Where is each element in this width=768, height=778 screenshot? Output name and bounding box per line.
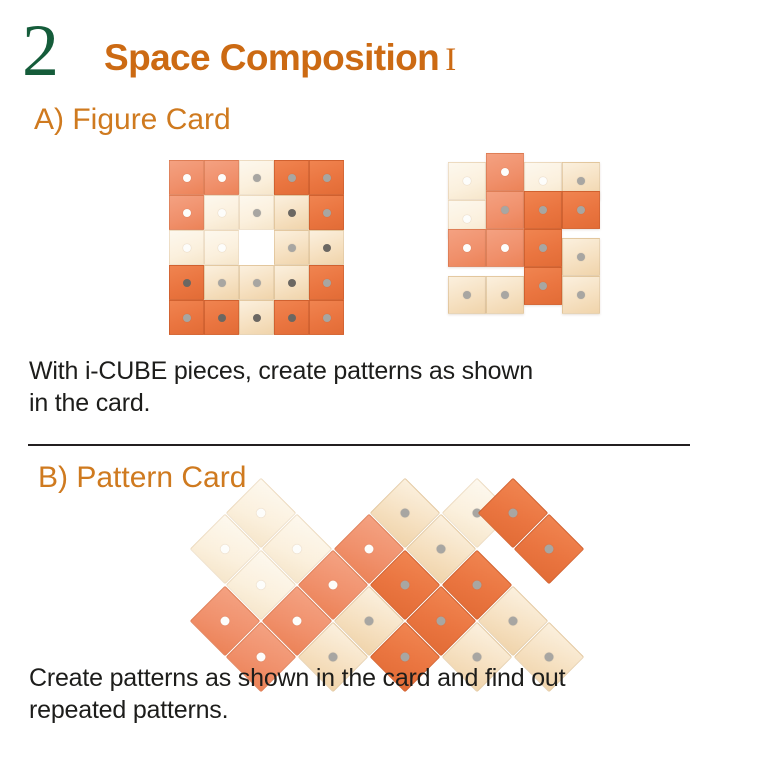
grid-cube-r1-c2 bbox=[204, 160, 239, 195]
cube-dot-icon bbox=[501, 168, 509, 176]
cube-dot-icon bbox=[471, 579, 484, 592]
cube-face bbox=[486, 153, 524, 191]
grid-cube-r3-c1 bbox=[169, 230, 204, 265]
cube-dot-icon bbox=[463, 291, 471, 299]
cube-face bbox=[486, 191, 524, 229]
cube-face bbox=[486, 276, 524, 314]
cube-face bbox=[274, 160, 309, 195]
stack-cube-r4-c4 bbox=[562, 276, 600, 314]
section-a-heading: A) Figure Card bbox=[34, 103, 231, 137]
cube-dot-icon bbox=[218, 244, 226, 252]
cube-face bbox=[524, 191, 562, 229]
stack-cube-r3-c3 bbox=[524, 229, 562, 267]
cube-face bbox=[309, 230, 344, 265]
cube-face bbox=[169, 265, 204, 300]
cube-face bbox=[562, 191, 600, 229]
stack-cube-r3-c1 bbox=[448, 229, 486, 267]
cube-dot-icon bbox=[183, 279, 191, 287]
grid-cube-r1-c3 bbox=[239, 160, 274, 195]
cube-dot-icon bbox=[539, 177, 547, 185]
cube-dot-icon bbox=[463, 215, 471, 223]
cube-face bbox=[562, 276, 600, 314]
grid-cube-r2-c5 bbox=[309, 195, 344, 230]
cube-dot-icon bbox=[288, 244, 296, 252]
grid-cube-r2-c3 bbox=[239, 195, 274, 230]
cube-dot-icon bbox=[435, 543, 448, 556]
cube-dot-icon bbox=[183, 174, 191, 182]
cube-face bbox=[239, 300, 274, 335]
grid-cube-r1-c5 bbox=[309, 160, 344, 195]
cube-face bbox=[448, 276, 486, 314]
cube-face bbox=[309, 300, 344, 335]
cube-face bbox=[169, 160, 204, 195]
cube-face bbox=[204, 265, 239, 300]
cube-dot-icon bbox=[291, 615, 304, 628]
cube-dot-icon bbox=[218, 314, 226, 322]
cube-dot-icon bbox=[218, 174, 226, 182]
cube-face bbox=[562, 238, 600, 276]
cube-dot-icon bbox=[577, 177, 585, 185]
cube-face bbox=[239, 160, 274, 195]
page-title-numeral: I bbox=[439, 42, 455, 78]
cube-dot-icon bbox=[577, 206, 585, 214]
cube-dot-icon bbox=[327, 579, 340, 592]
cube-face bbox=[448, 229, 486, 267]
cube-face bbox=[169, 300, 204, 335]
cube-face bbox=[169, 230, 204, 265]
cube-face bbox=[239, 265, 274, 300]
page-title-text: Space Composition bbox=[104, 37, 439, 78]
cube-dot-icon bbox=[253, 314, 261, 322]
cube-dot-icon bbox=[501, 291, 509, 299]
cube-dot-icon bbox=[323, 314, 331, 322]
stack-cube-r2-c2 bbox=[486, 191, 524, 229]
grid-cube-r5-c4 bbox=[274, 300, 309, 335]
cube-dot-icon bbox=[539, 244, 547, 252]
cube-dot-icon bbox=[323, 279, 331, 287]
stack-cube-r3-c4 bbox=[562, 238, 600, 276]
cube-dot-icon bbox=[323, 174, 331, 182]
figure-card-square-grid bbox=[169, 160, 344, 335]
cube-face bbox=[309, 160, 344, 195]
cube-dot-icon bbox=[219, 615, 232, 628]
cube-dot-icon bbox=[219, 543, 232, 556]
stack-cube-r4-c1 bbox=[448, 276, 486, 314]
grid-cube-r5-c2 bbox=[204, 300, 239, 335]
stack-cube-r3-c2 bbox=[486, 229, 524, 267]
grid-cube-r2-c1 bbox=[169, 195, 204, 230]
cube-face bbox=[486, 229, 524, 267]
cube-dot-icon bbox=[435, 615, 448, 628]
cube-dot-icon bbox=[288, 279, 296, 287]
grid-cube-r4-c1 bbox=[169, 265, 204, 300]
cube-face bbox=[524, 229, 562, 267]
cube-dot-icon bbox=[543, 543, 556, 556]
cube-dot-icon bbox=[507, 507, 520, 520]
cube-dot-icon bbox=[399, 507, 412, 520]
cube-face bbox=[204, 230, 239, 265]
grid-cube-r3-c2 bbox=[204, 230, 239, 265]
cube-face bbox=[309, 265, 344, 300]
cube-face bbox=[204, 195, 239, 230]
section-a-caption: With i-CUBE pieces, create patterns as s… bbox=[29, 355, 689, 419]
figure-card-stack-grid bbox=[448, 162, 618, 337]
cube-dot-icon bbox=[577, 253, 585, 261]
section-b-caption: Create patterns as shown in the card and… bbox=[29, 662, 709, 726]
cube-face bbox=[274, 195, 309, 230]
grid-cube-r4-c5 bbox=[309, 265, 344, 300]
cube-dot-icon bbox=[183, 314, 191, 322]
cube-dot-icon bbox=[539, 282, 547, 290]
cube-dot-icon bbox=[291, 543, 304, 556]
cube-face bbox=[204, 300, 239, 335]
stack-cube-r4-c3 bbox=[524, 267, 562, 305]
cube-dot-icon bbox=[288, 174, 296, 182]
cube-face bbox=[204, 160, 239, 195]
cube-dot-icon bbox=[183, 209, 191, 217]
grid-cube-r4-c3 bbox=[239, 265, 274, 300]
cube-dot-icon bbox=[363, 615, 376, 628]
cube-dot-icon bbox=[253, 209, 261, 217]
grid-cube-r2-c4 bbox=[274, 195, 309, 230]
page-header: 2 Space CompositionI bbox=[0, 0, 768, 100]
grid-cube-r3-c5 bbox=[309, 230, 344, 265]
pattern-card-diagonal-grid bbox=[200, 506, 560, 646]
cube-dot-icon bbox=[463, 177, 471, 185]
cube-face bbox=[274, 230, 309, 265]
cube-dot-icon bbox=[253, 279, 261, 287]
cube-face bbox=[274, 265, 309, 300]
cube-face bbox=[169, 195, 204, 230]
grid-cube-r4-c2 bbox=[204, 265, 239, 300]
cube-dot-icon bbox=[463, 244, 471, 252]
cube-dot-icon bbox=[323, 244, 331, 252]
cube-dot-icon bbox=[507, 615, 520, 628]
cube-face bbox=[309, 195, 344, 230]
cube-face bbox=[239, 195, 274, 230]
cube-dot-icon bbox=[399, 579, 412, 592]
cube-dot-icon bbox=[288, 209, 296, 217]
grid-cube-r2-c2 bbox=[204, 195, 239, 230]
cube-dot-icon bbox=[577, 291, 585, 299]
stack-cube-r1-c1 bbox=[448, 162, 486, 200]
cube-face bbox=[448, 162, 486, 200]
grid-cube-r5-c3 bbox=[239, 300, 274, 335]
section-b-heading: B) Pattern Card bbox=[38, 461, 246, 495]
cube-dot-icon bbox=[218, 279, 226, 287]
grid-cube-r1-c1 bbox=[169, 160, 204, 195]
cube-face bbox=[524, 267, 562, 305]
grid-cube-r5-c5 bbox=[309, 300, 344, 335]
cube-dot-icon bbox=[255, 507, 268, 520]
grid-cube-r3-c3 bbox=[239, 230, 274, 265]
cube-dot-icon bbox=[253, 174, 261, 182]
cube-dot-icon bbox=[501, 244, 509, 252]
stack-cube-r2-c3 bbox=[524, 191, 562, 229]
cube-dot-icon bbox=[501, 206, 509, 214]
cube-dot-icon bbox=[255, 579, 268, 592]
grid-cube-r1-c4 bbox=[274, 160, 309, 195]
stack-cube-r2-c4 bbox=[562, 191, 600, 229]
cube-face bbox=[274, 300, 309, 335]
section-number: 2 bbox=[22, 14, 58, 88]
stack-cube-r4-c2 bbox=[486, 276, 524, 314]
grid-cube-r3-c4 bbox=[274, 230, 309, 265]
cube-face bbox=[239, 230, 274, 265]
cube-dot-icon bbox=[323, 209, 331, 217]
grid-cube-r4-c4 bbox=[274, 265, 309, 300]
stack-cube-r1-c2 bbox=[486, 153, 524, 191]
cube-dot-icon bbox=[539, 206, 547, 214]
cube-dot-icon bbox=[288, 314, 296, 322]
cube-dot-icon bbox=[183, 244, 191, 252]
section-divider bbox=[28, 444, 690, 446]
cube-dot-icon bbox=[363, 543, 376, 556]
page-title: Space CompositionI bbox=[104, 38, 456, 80]
cube-dot-icon bbox=[218, 209, 226, 217]
grid-cube-r5-c1 bbox=[169, 300, 204, 335]
